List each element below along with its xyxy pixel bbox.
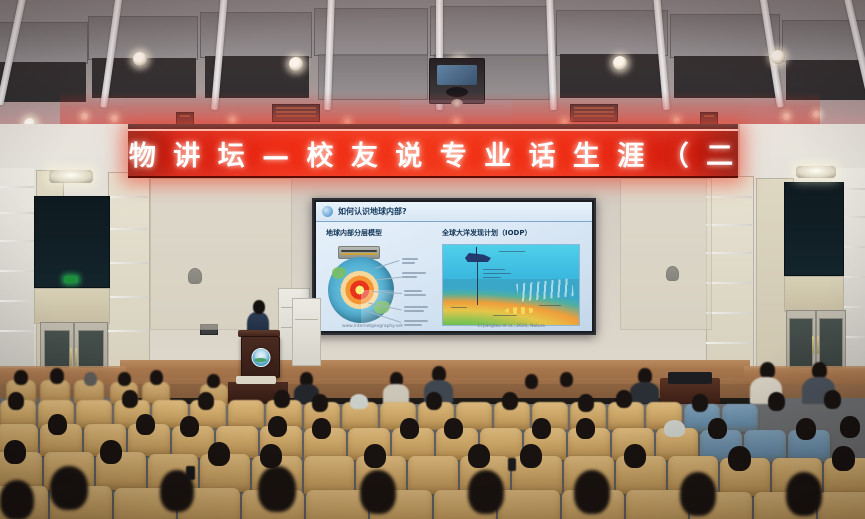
podium (241, 336, 280, 378)
earth-label (404, 310, 424, 312)
audience-head (118, 372, 131, 386)
seat (498, 490, 560, 519)
audience-head (84, 372, 97, 386)
wall-slat (108, 296, 148, 298)
wall-slat (706, 282, 752, 284)
projection-screen: 如何认识地球内部? 地球内部分层模型 全球大洋发现计划（IODP） (312, 198, 596, 335)
ceiling-downlight (133, 52, 147, 66)
ceiling-downlight (613, 56, 627, 70)
audience-head (4, 440, 26, 464)
audience-head (576, 418, 595, 439)
audience-head (796, 418, 816, 440)
led-banner: 地 物 讲 坛 — 校 友 说 专 业 话 生 涯 （ 二 ） (128, 129, 738, 178)
banner-glow-ceiling (60, 92, 820, 126)
audience-head-with-cap (350, 394, 368, 409)
drill-riser (477, 261, 478, 305)
seat (306, 490, 368, 519)
right-dark-wall-panel (784, 182, 844, 276)
audience-head (426, 392, 442, 410)
audience-head (207, 374, 220, 388)
earth-label (404, 290, 422, 292)
audience-head-foreground (468, 470, 504, 514)
door-handle[interactable] (812, 336, 814, 354)
projector-body (437, 65, 477, 85)
audience-head (444, 418, 463, 439)
audience-head (692, 394, 708, 412)
exit-sign-icon (64, 276, 78, 283)
door-handle[interactable] (70, 348, 72, 366)
audience-head (616, 390, 632, 408)
acoustic-panel (108, 172, 150, 376)
wall-slat (706, 252, 752, 254)
wall-slat (0, 270, 34, 272)
seat (818, 492, 865, 519)
ceiling-panel (430, 6, 552, 56)
ceiling-panel (556, 10, 668, 56)
audience-head (768, 392, 785, 411)
earth-label (404, 320, 428, 322)
earth-label (402, 276, 417, 278)
audience-head (532, 418, 551, 439)
audience-head (268, 416, 287, 437)
acoustic-panel (784, 276, 844, 312)
earth-label (402, 258, 418, 260)
audience-head (260, 444, 282, 468)
audience-head (180, 416, 199, 437)
slide-left-heading: 地球内部分层模型 (326, 228, 382, 238)
audience-head-foreground (360, 470, 396, 514)
iodp-figure (442, 244, 580, 326)
audience-head (560, 372, 573, 387)
seat (228, 400, 264, 428)
audience-head (502, 392, 518, 410)
banner-text: 地 物 讲 坛 — 校 友 说 专 业 话 生 涯 （ 二 ） (128, 134, 738, 173)
slide-title: 如何认识地球内部? (338, 206, 407, 217)
audience-head (50, 368, 64, 384)
audience-head-foreground (574, 470, 610, 514)
magma-chamber (505, 307, 535, 314)
auditorium-photo: 地 物 讲 坛 — 校 友 说 专 业 话 生 涯 （ 二 ） 如何认识地球内部… (0, 0, 865, 519)
equipment-bag (668, 372, 712, 384)
acoustic-panel (706, 176, 754, 376)
audience-head (525, 374, 538, 389)
earth-label (402, 262, 415, 264)
audience-head (520, 444, 542, 468)
speaker-head (253, 300, 265, 314)
audience-head (312, 418, 331, 439)
audience-head (136, 414, 155, 435)
audience-head-foreground (258, 466, 296, 512)
audience-head (100, 440, 122, 464)
presentation-slide: 如何认识地球内部? 地球内部分层模型 全球大洋发现计划（IODP） (316, 202, 592, 331)
slide-left-citation: www.internetgeography.net (342, 324, 403, 329)
audience-head (198, 392, 214, 410)
audience-head (400, 418, 419, 439)
wall-slat (0, 300, 34, 302)
stage-cabinet (292, 298, 321, 366)
back-wall-panel (620, 178, 712, 330)
audience-head (728, 446, 751, 471)
seat (408, 456, 458, 494)
earth-label (404, 306, 428, 308)
audience-head-foreground (0, 480, 34, 519)
audience-head-foreground (680, 472, 716, 516)
audience-head (578, 394, 594, 412)
slide-right-heading: 全球大洋发现计划（IODP） (442, 228, 532, 238)
seat-accent (722, 404, 758, 432)
door-handle[interactable] (817, 336, 819, 354)
slide-title-bar: 如何认识地球内部? (316, 202, 592, 222)
wall-slat (108, 196, 148, 198)
left-dark-wall-panel (34, 196, 110, 288)
earth-landmass (332, 267, 346, 279)
audience-head (840, 416, 860, 438)
wall-slat (0, 212, 34, 214)
audience-head (832, 446, 855, 471)
back-wall-panel (150, 178, 292, 330)
slide-right-citation: Li Jiangtao et al., 2020, Nature (478, 324, 545, 329)
audience-head (708, 418, 727, 439)
seat (626, 490, 688, 519)
ceiling-downlight (289, 57, 303, 71)
podium-emblem (251, 348, 270, 367)
wall-slat (108, 262, 148, 264)
audience-head (274, 390, 290, 408)
audience-head (122, 390, 138, 408)
wall-slat (706, 196, 752, 198)
audience-head (364, 444, 386, 468)
earth-label (402, 272, 426, 274)
audience-shoulders (383, 384, 409, 404)
wall-light-fixture (796, 166, 836, 178)
audience-head (468, 444, 490, 468)
seat (304, 456, 354, 494)
wall-light-fixture (49, 170, 93, 183)
smartphone-held-up (186, 466, 195, 480)
wall-slat (706, 342, 752, 344)
audience-head (312, 394, 328, 412)
wall-slat (108, 228, 148, 230)
ship-mast (476, 247, 477, 255)
acoustic-panel (34, 288, 110, 324)
smartphone-held-up (508, 458, 516, 471)
audience-head (824, 390, 841, 409)
audience-head (14, 370, 28, 385)
earth-label (404, 294, 426, 296)
audience-head (624, 444, 646, 468)
earth-cross-section-figure (328, 257, 394, 323)
audience-head (48, 414, 67, 435)
audience-shoulders (630, 382, 659, 404)
earth-label (404, 324, 422, 326)
wall-slat (0, 330, 34, 332)
wall-slat (108, 330, 148, 332)
audience-head-foreground (50, 466, 88, 510)
right-door-glass (789, 318, 813, 372)
audience-head (8, 392, 24, 410)
wall-slat (706, 224, 752, 226)
door-handle[interactable] (75, 348, 77, 366)
audience-head (150, 370, 163, 385)
wall-slat (706, 312, 752, 314)
audience-head-foreground (786, 472, 822, 516)
audience-head-with-cap (664, 420, 685, 437)
wall-slat (0, 240, 34, 242)
audience-head (208, 442, 230, 466)
table-items (236, 376, 276, 384)
wall-slat (0, 186, 34, 188)
ceiling-downlight (771, 50, 785, 64)
slide-logo-icon (322, 206, 333, 217)
